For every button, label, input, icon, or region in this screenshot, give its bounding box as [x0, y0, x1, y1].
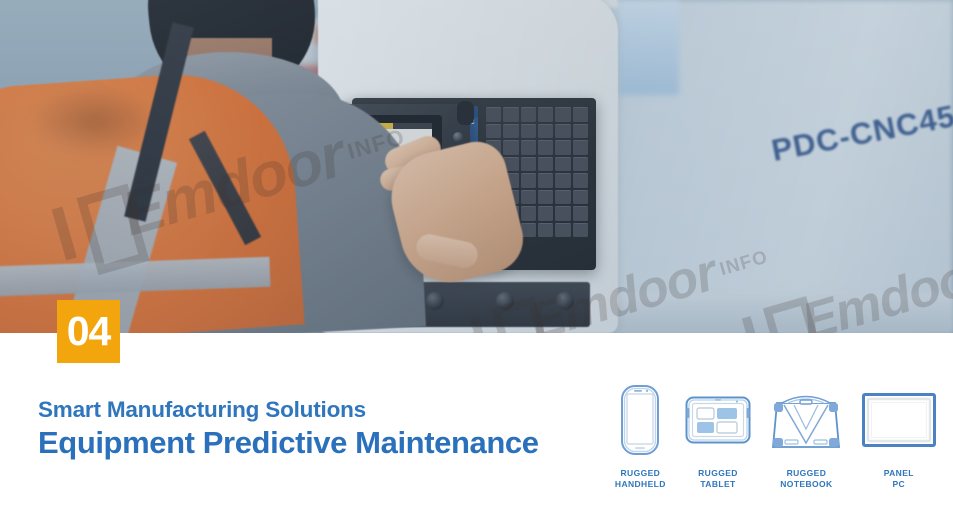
- worker-vest-shading: [30, 86, 160, 156]
- slide-title: Equipment Predictive Maintenance: [38, 424, 539, 461]
- product-rugged-handheld[interactable]: RUGGED HANDHELD: [604, 381, 677, 491]
- product-panel-pc[interactable]: PANEL PC: [854, 381, 944, 491]
- title-block: Smart Manufacturing Solutions Equipment …: [38, 397, 539, 461]
- panel-pc-icon: [862, 381, 936, 459]
- section-number-text: 04: [67, 311, 111, 352]
- product-label: PANEL PC: [884, 468, 914, 491]
- product-rugged-tablet[interactable]: RUGGED TABLET: [677, 381, 760, 491]
- hero-photo: PRATIC F 0 S 0 ■■■■: [0, 0, 953, 333]
- section-number-badge: 04: [57, 300, 120, 363]
- rugged-notebook-icon: [770, 381, 842, 459]
- product-label: RUGGED NOTEBOOK: [780, 468, 832, 491]
- tablet-corner-bumper: [457, 101, 474, 125]
- slide-subtitle: Smart Manufacturing Solutions: [38, 397, 539, 423]
- product-range-strip: RUGGED HANDHELD: [604, 381, 944, 516]
- slide-root: PRATIC F 0 S 0 ■■■■: [0, 0, 953, 529]
- rugged-tablet-icon: [685, 381, 751, 459]
- lower-content-band: 04 Emdoor INFO Emdoor INFO Emdoor INFO S…: [0, 333, 953, 529]
- background-light-panel: [619, 0, 679, 95]
- product-label: RUGGED HANDHELD: [615, 468, 666, 491]
- product-rugged-notebook[interactable]: RUGGED NOTEBOOK: [759, 381, 853, 491]
- product-label: RUGGED TABLET: [698, 468, 738, 491]
- rugged-handheld-icon: [620, 381, 660, 459]
